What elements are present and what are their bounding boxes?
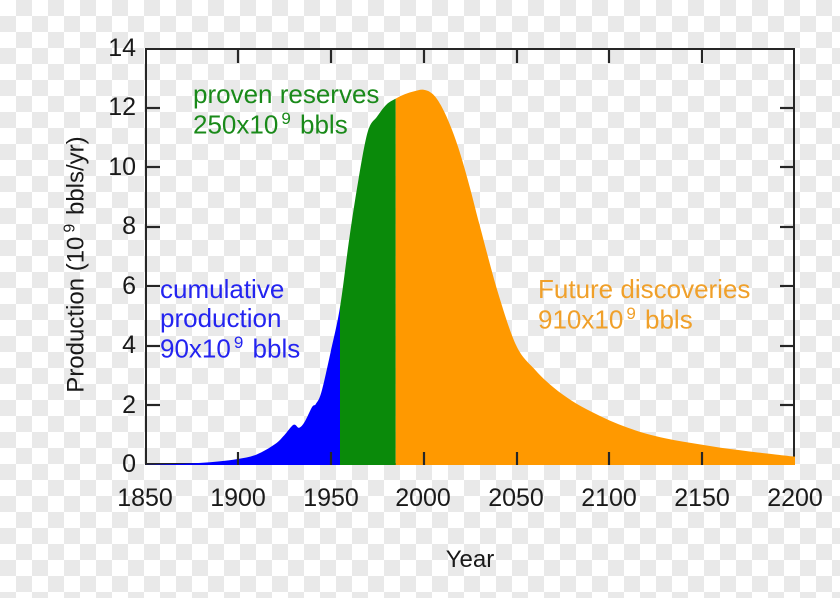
annotation-future-discoveries-unit: bbls [638, 305, 693, 335]
chart-canvas: Production (109 bbls/yr) 14 12 10 8 6 4 … [0, 0, 840, 598]
annotation-cumulative-production-value: 90x10 [160, 334, 231, 364]
annotation-future-discoveries-line2: 910x109 bbls [538, 304, 750, 335]
annotation-cumulative-production-exponent: 9 [231, 333, 245, 352]
annotation-proven-reserves-line1: proven reserves [193, 80, 379, 109]
annotation-cumulative-production-line3: 90x109 bbls [160, 333, 300, 364]
annotation-cumulative-production-line1: cumulative [160, 275, 300, 304]
annotation-cumulative-production-line2: production [160, 304, 300, 333]
annotation-proven-reserves-exponent: 9 [278, 109, 292, 128]
annotation-cumulative-production: cumulative production 90x109 bbls [160, 275, 300, 364]
annotation-future-discoveries: Future discoveries 910x109 bbls [538, 275, 750, 335]
annotation-proven-reserves: proven reserves 250x109 bbls [193, 80, 379, 140]
annotation-future-discoveries-exponent: 9 [623, 304, 637, 323]
annotation-proven-reserves-line2: 250x109 bbls [193, 109, 379, 140]
annotation-proven-reserves-unit: bbls [293, 110, 348, 140]
annotation-proven-reserves-value: 250x10 [193, 110, 278, 140]
annotation-future-discoveries-line1: Future discoveries [538, 275, 750, 304]
annotation-future-discoveries-value: 910x10 [538, 305, 623, 335]
annotation-cumulative-production-unit: bbls [245, 334, 300, 364]
